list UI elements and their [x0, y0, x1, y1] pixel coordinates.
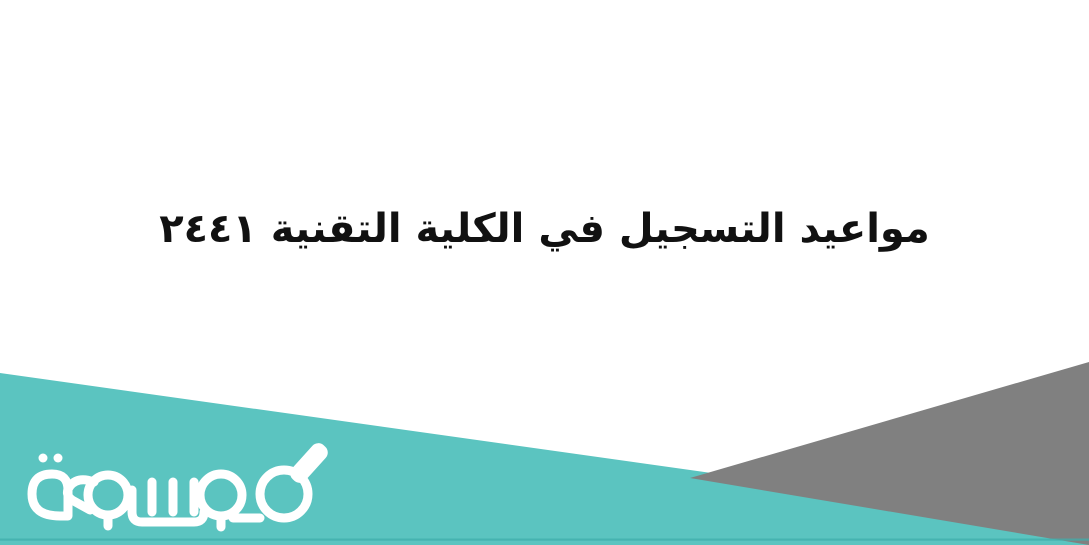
- page-title: مواعيد التسجيل في الكلية التقنية ١٤٤٢: [159, 202, 930, 256]
- brand-logo-svg: [8, 432, 358, 534]
- taa-marbuta-dots: [39, 454, 63, 463]
- taa-dot-1: [39, 454, 48, 463]
- magnifier-icon: [287, 440, 331, 486]
- brand-logo[interactable]: موسوعة: [8, 432, 358, 534]
- page-title-container: مواعيد التسجيل في الكلية التقنية ١٤٤٢: [0, 186, 1089, 272]
- slide-canvas: مواعيد التسجيل في الكلية التقنية ١٤٤٢ مو…: [0, 0, 1089, 545]
- taa-marbuta-bowl: [32, 474, 68, 516]
- bottom-rule: [0, 539, 1089, 541]
- taa-dot-2: [54, 454, 63, 463]
